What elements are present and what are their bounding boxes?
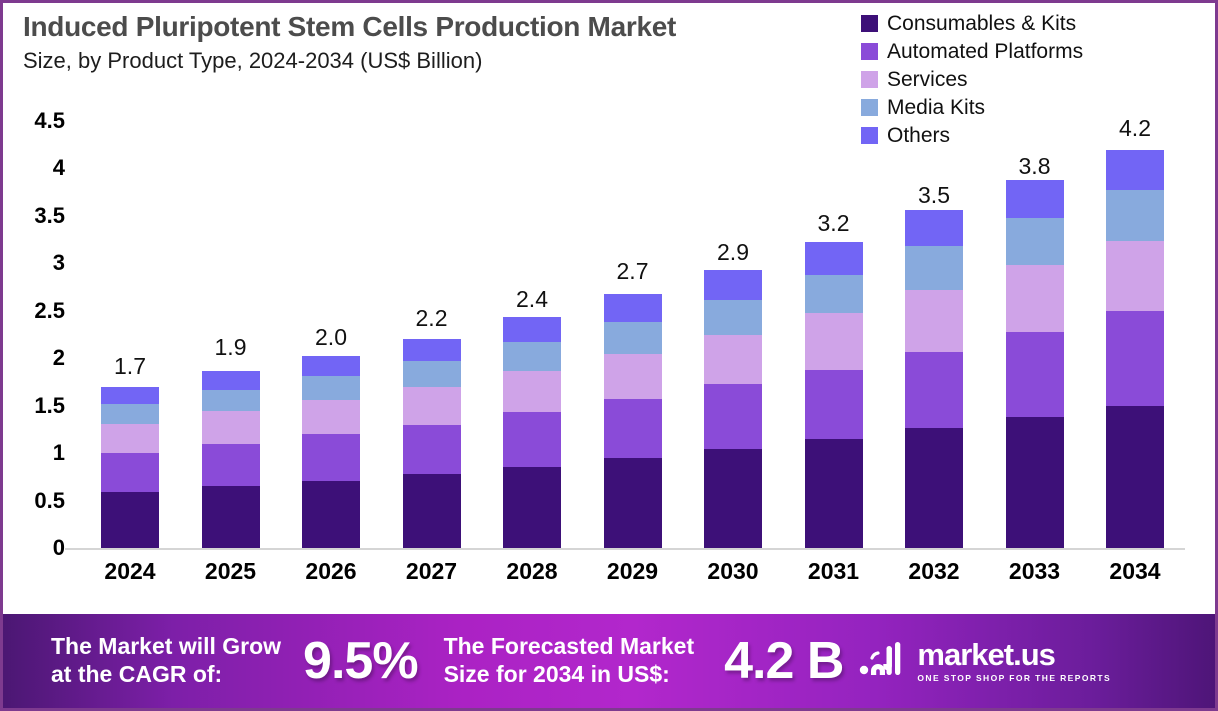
- legend-swatch-icon: [861, 43, 878, 60]
- bar-segment[interactable]: [1006, 265, 1064, 331]
- y-axis-tick-label: 2: [7, 345, 65, 371]
- bar-segment[interactable]: [101, 404, 159, 424]
- bar-segment[interactable]: [202, 371, 260, 390]
- logo-tagline: ONE STOP SHOP FOR THE REPORTS: [917, 673, 1111, 683]
- x-axis: 2024202520262027202820292030203120322033…: [65, 558, 1185, 598]
- market-us-logo-text: market.us ONE STOP SHOP FOR THE REPORTS: [917, 639, 1111, 683]
- bar-segment[interactable]: [403, 339, 461, 361]
- bar-segment[interactable]: [202, 390, 260, 412]
- x-axis-tick-label: 2033: [1006, 558, 1064, 585]
- y-axis-tick-label: 1: [7, 440, 65, 466]
- forecast-size-value: 4.2 B: [724, 631, 843, 691]
- bar-segment[interactable]: [503, 467, 561, 548]
- bar-segment[interactable]: [302, 481, 360, 548]
- bar-stack[interactable]: [1006, 180, 1064, 548]
- x-axis-tick-label: 2025: [202, 558, 260, 585]
- forecast-size-caption-line1: The Forecasted Market: [444, 633, 695, 661]
- legend-item-label: Automated Platforms: [887, 41, 1083, 62]
- forecast-size-caption: The Forecasted Market Size for 2034 in U…: [444, 633, 695, 688]
- bar-segment[interactable]: [302, 376, 360, 400]
- bar-segment[interactable]: [805, 275, 863, 313]
- bar-segment[interactable]: [403, 361, 461, 387]
- legend-swatch-icon: [861, 15, 878, 32]
- cagr-caption-line1: The Market will Grow: [51, 633, 281, 661]
- bar-total-label: 2.4: [516, 286, 548, 313]
- bar-segment[interactable]: [503, 371, 561, 413]
- bar-segment[interactable]: [704, 335, 762, 384]
- bar-segment[interactable]: [1006, 417, 1064, 548]
- bar-segment[interactable]: [302, 400, 360, 434]
- bar-segment[interactable]: [302, 356, 360, 376]
- bar-segment[interactable]: [604, 458, 662, 548]
- cagr-caption-line2: at the CAGR of:: [51, 661, 281, 689]
- y-axis-tick-label: 4: [7, 155, 65, 181]
- bar-segment[interactable]: [1106, 311, 1164, 406]
- x-axis-tick-label: 2027: [403, 558, 461, 585]
- bar-segment[interactable]: [704, 449, 762, 548]
- legend-swatch-icon: [861, 71, 878, 88]
- market-us-logo[interactable]: market.us ONE STOP SHOP FOR THE REPORTS: [859, 639, 1111, 683]
- legend-item-label: Consumables & Kits: [887, 13, 1076, 34]
- bar-segment[interactable]: [704, 384, 762, 449]
- bar-stack[interactable]: [604, 294, 662, 548]
- x-axis-tick-label: 2032: [905, 558, 963, 585]
- bar-segment[interactable]: [1006, 180, 1064, 218]
- bar-stack[interactable]: [302, 356, 360, 548]
- bar-total-label: 2.7: [617, 258, 649, 285]
- y-axis-tick-label: 0: [7, 535, 65, 561]
- footer-banner: The Market will Grow at the CAGR of: 9.5…: [3, 614, 1215, 708]
- cagr-caption: The Market will Grow at the CAGR of:: [51, 633, 281, 688]
- bar-stack[interactable]: [403, 339, 461, 548]
- market-us-logo-icon: [859, 640, 909, 683]
- logo-name: market.us: [917, 639, 1111, 670]
- bar-segment[interactable]: [503, 342, 561, 370]
- bar-segment[interactable]: [1006, 218, 1064, 265]
- bar-segment[interactable]: [704, 300, 762, 334]
- bar-segment[interactable]: [905, 428, 963, 549]
- bar-segment[interactable]: [805, 242, 863, 275]
- bar-segment[interactable]: [805, 370, 863, 439]
- bar-segment[interactable]: [604, 399, 662, 458]
- bar-segment[interactable]: [1006, 332, 1064, 417]
- bar-segment[interactable]: [101, 453, 159, 492]
- page-subtitle: Size, by Product Type, 2024-2034 (US$ Bi…: [23, 48, 853, 73]
- y-axis-tick-label: 3.5: [7, 203, 65, 229]
- bar-segment[interactable]: [905, 246, 963, 290]
- bar-segment[interactable]: [403, 425, 461, 474]
- y-axis: 00.511.522.533.544.5: [3, 103, 65, 563]
- cagr-value: 9.5%: [303, 631, 418, 691]
- bar-segment[interactable]: [101, 424, 159, 453]
- bars-container: 1.71.92.02.22.42.72.93.23.53.84.2: [65, 103, 1185, 548]
- bar-segment[interactable]: [905, 352, 963, 428]
- legend-item[interactable]: Consumables & Kits: [861, 11, 1181, 35]
- bar-stack[interactable]: [905, 210, 963, 548]
- bar-segment[interactable]: [604, 294, 662, 322]
- bar-segment[interactable]: [1106, 406, 1164, 548]
- bar-total-label: 3.8: [1019, 153, 1051, 180]
- bar-segment[interactable]: [905, 290, 963, 352]
- bar-segment[interactable]: [1106, 241, 1164, 311]
- infographic-frame: Induced Pluripotent Stem Cells Productio…: [0, 0, 1218, 711]
- y-axis-tick-label: 0.5: [7, 488, 65, 514]
- bar-segment[interactable]: [805, 313, 863, 370]
- bar-stack[interactable]: [503, 317, 561, 548]
- bar-segment[interactable]: [704, 270, 762, 300]
- bar-segment[interactable]: [202, 486, 260, 548]
- legend-item[interactable]: Services: [861, 67, 1181, 91]
- bar-segment[interactable]: [905, 210, 963, 246]
- bar-total-label: 1.7: [114, 353, 146, 380]
- bar-total-label: 2.9: [717, 239, 749, 266]
- bar-segment[interactable]: [202, 411, 260, 443]
- y-axis-tick-label: 2.5: [7, 298, 65, 324]
- x-axis-tick-label: 2028: [503, 558, 561, 585]
- y-axis-tick-label: 3: [7, 250, 65, 276]
- bar-segment[interactable]: [604, 354, 662, 400]
- page-title: Induced Pluripotent Stem Cells Productio…: [23, 11, 853, 43]
- bar-segment[interactable]: [503, 412, 561, 467]
- chart-plot-area: 00.511.522.533.544.5 1.71.92.02.22.42.72…: [3, 103, 1215, 563]
- x-axis-baseline: [65, 548, 1185, 550]
- bar-stack[interactable]: [1106, 150, 1164, 548]
- bar-segment[interactable]: [604, 322, 662, 353]
- bar-segment[interactable]: [302, 434, 360, 480]
- legend-item[interactable]: Automated Platforms: [861, 39, 1181, 63]
- bar-total-label: 2.2: [416, 305, 448, 332]
- bar-stack[interactable]: [202, 371, 260, 548]
- chart-header: Induced Pluripotent Stem Cells Productio…: [23, 11, 853, 73]
- bar-segment[interactable]: [503, 317, 561, 342]
- y-axis-tick-label: 1.5: [7, 393, 65, 419]
- bar-total-label: 1.9: [215, 334, 247, 361]
- bar-segment[interactable]: [101, 492, 159, 548]
- bar-segment[interactable]: [1106, 150, 1164, 190]
- bar-segment[interactable]: [101, 387, 159, 404]
- y-axis-tick-label: 4.5: [7, 108, 65, 134]
- x-axis-tick-label: 2031: [805, 558, 863, 585]
- bar-stack[interactable]: [704, 270, 762, 548]
- bar-total-label: 3.2: [818, 210, 850, 237]
- x-axis-tick-label: 2034: [1106, 558, 1164, 585]
- x-axis-tick-label: 2024: [101, 558, 159, 585]
- bar-stack[interactable]: [101, 387, 159, 548]
- bar-segment[interactable]: [805, 439, 863, 548]
- legend-item-label: Services: [887, 69, 968, 90]
- bar-segment[interactable]: [1106, 190, 1164, 240]
- x-axis-tick-label: 2030: [704, 558, 762, 585]
- bar-segment[interactable]: [403, 387, 461, 425]
- x-axis-tick-label: 2029: [604, 558, 662, 585]
- bar-stack[interactable]: [805, 242, 863, 548]
- bar-segment[interactable]: [202, 444, 260, 487]
- bar-total-label: 3.5: [918, 182, 950, 209]
- bar-total-label: 2.0: [315, 324, 347, 351]
- x-axis-tick-label: 2026: [302, 558, 360, 585]
- bar-total-label: 4.2: [1119, 115, 1151, 142]
- forecast-size-caption-line2: Size for 2034 in US$:: [444, 661, 695, 689]
- bar-segment[interactable]: [403, 474, 461, 548]
